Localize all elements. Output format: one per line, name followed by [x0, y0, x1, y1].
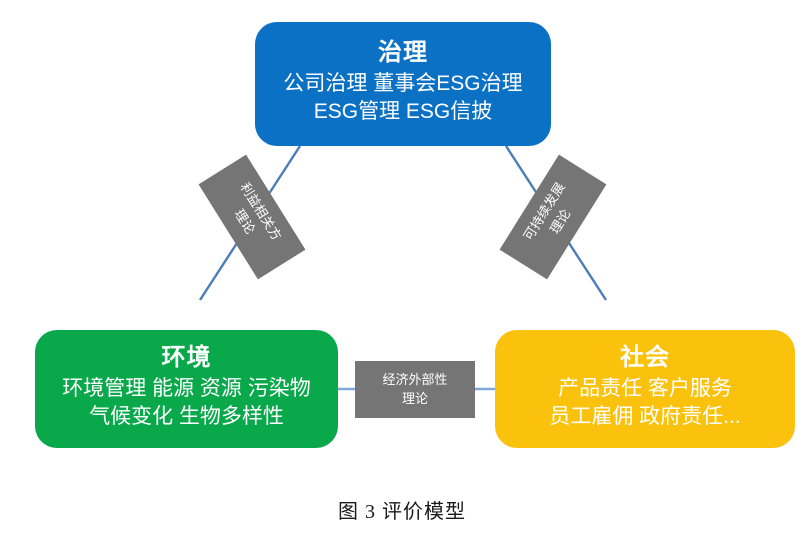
theory-label-stakeholder: 利益相关方 理论: [199, 155, 306, 280]
pillar-environment-title: 环境: [162, 343, 212, 373]
theory-label-sustainable-development: 可持续发展 理论: [500, 155, 607, 280]
figure-canvas: 治理 公司治理 董事会ESG治理 ESG管理 ESG信披 环境 环境管理 能源 …: [0, 0, 804, 544]
pillar-social-line-1: 产品责任 客户服务: [558, 375, 732, 403]
pillar-governance: 治理 公司治理 董事会ESG治理 ESG管理 ESG信披: [255, 22, 551, 146]
pillar-environment: 环境 环境管理 能源 资源 污染物 气候变化 生物多样性: [35, 330, 338, 448]
pillar-social-title: 社会: [620, 343, 670, 373]
pillar-social: 社会 产品责任 客户服务 员工雇佣 政府责任...: [495, 330, 795, 448]
pillar-environment-line-1: 环境管理 能源 资源 污染物: [62, 375, 311, 403]
theory-externality-line-2: 理论: [402, 390, 428, 409]
theory-label-economic-externality: 经济外部性 理论: [355, 361, 475, 418]
pillar-governance-line-2: ESG管理 ESG信披: [314, 98, 493, 126]
theory-externality-line-1: 经济外部性: [382, 371, 447, 390]
pillar-social-line-2: 员工雇佣 政府责任...: [549, 403, 740, 431]
pillar-environment-line-2: 气候变化 生物多样性: [89, 403, 284, 431]
pillar-governance-title: 治理: [378, 38, 428, 68]
pillar-governance-line-1: 公司治理 董事会ESG治理: [283, 70, 522, 98]
figure-caption: 图 3 评价模型: [0, 495, 804, 524]
